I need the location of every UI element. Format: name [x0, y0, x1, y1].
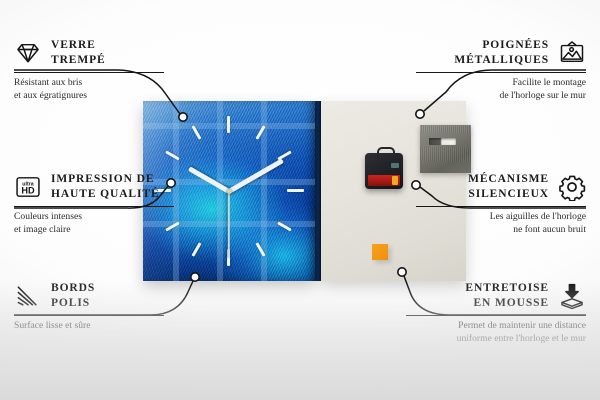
second-hand	[228, 191, 230, 257]
movement-label	[391, 163, 399, 168]
feature-impression-haute-qualite: ultra HD IMPRESSION DE HAUTE QUALITÉ Cou…	[14, 172, 174, 236]
battery	[368, 175, 400, 186]
picture-frame-hanger-icon	[558, 39, 586, 67]
divider	[14, 72, 164, 73]
foam-spacer-icon	[558, 282, 586, 310]
divider	[14, 206, 174, 207]
feature-title-line2: SILENCIEUX	[468, 187, 549, 202]
polished-edges-icon	[14, 282, 42, 310]
feature-title-line1: MÉCANISME	[468, 172, 549, 187]
feature-verre-trempe: VERRE TREMPÉ Résistant aux bris et aux é…	[14, 38, 164, 102]
divider	[416, 206, 586, 207]
feature-title-line1: ENTRETOISE	[465, 281, 549, 296]
metal-hanger-plate	[420, 125, 471, 173]
feature-title-line1: VERRE	[51, 38, 106, 53]
feature-desc-line1: Résistant aux bris	[14, 77, 164, 89]
feature-title-line2: TREMPÉ	[51, 53, 106, 68]
feature-desc-line1: Les aiguilles de l'horloge	[416, 211, 586, 223]
feature-desc-line2: et image claire	[14, 224, 174, 236]
feature-title-line1: IMPRESSION DE	[51, 172, 160, 187]
pattern-line	[217, 101, 223, 281]
divider	[406, 315, 586, 316]
hour-marker	[287, 189, 304, 192]
movement-hook	[377, 147, 395, 159]
ultra-hd-icon: ultra HD	[14, 173, 42, 201]
divider	[416, 72, 586, 73]
feature-desc-line2: ne font aucun bruit	[416, 224, 586, 236]
diamond-icon	[14, 39, 42, 67]
feature-desc-line1: Facilite le montage	[416, 77, 586, 89]
feature-title-line2: POLIS	[51, 296, 95, 311]
feature-bords-polis: BORDS POLIS Surface lisse et sûre	[14, 281, 164, 333]
feature-title-line2: HAUTE QUALITÉ	[51, 187, 160, 202]
quartz-movement	[365, 153, 403, 189]
foam-spacer	[372, 244, 388, 260]
feature-title-line2: EN MOUSSE	[465, 296, 549, 311]
feature-title-line2: MÉTALLIQUES	[454, 53, 549, 68]
feature-title-line1: BORDS	[51, 281, 95, 296]
feature-entretoise-en-mousse: ENTRETOISE EN MOUSSE Permet de maintenir…	[406, 281, 586, 345]
hour-marker	[227, 116, 230, 133]
feature-desc-line1: Surface lisse et sûre	[14, 320, 164, 332]
feature-desc-line1: Couleurs intenses	[14, 211, 174, 223]
hour-marker	[191, 242, 201, 256]
feature-poignees-metalliques: POIGNÉES MÉTALLIQUES Facilite le montage…	[416, 38, 586, 102]
hanger-slot	[429, 138, 456, 145]
feature-desc-line2: uniforme entre l'horloge et le mur	[406, 333, 586, 345]
feature-desc-line2: et aux égratignures	[14, 90, 164, 102]
feature-desc-line2: de l'horloge sur le mur	[416, 90, 586, 102]
feature-title-line1: POIGNÉES	[454, 38, 549, 53]
feature-mecanisme-silencieux: MÉCANISME SILENCIEUX Les aiguilles de l'…	[416, 172, 586, 236]
product-infographic: VERRE TREMPÉ Résistant aux bris et aux é…	[0, 0, 600, 400]
divider	[14, 315, 164, 316]
gear-icon	[558, 173, 586, 201]
svg-text:HD: HD	[21, 186, 35, 196]
hands-centre-pin	[227, 189, 232, 194]
feature-desc-line1: Permet de maintenir une distance	[406, 320, 586, 332]
minute-hand	[228, 158, 284, 193]
